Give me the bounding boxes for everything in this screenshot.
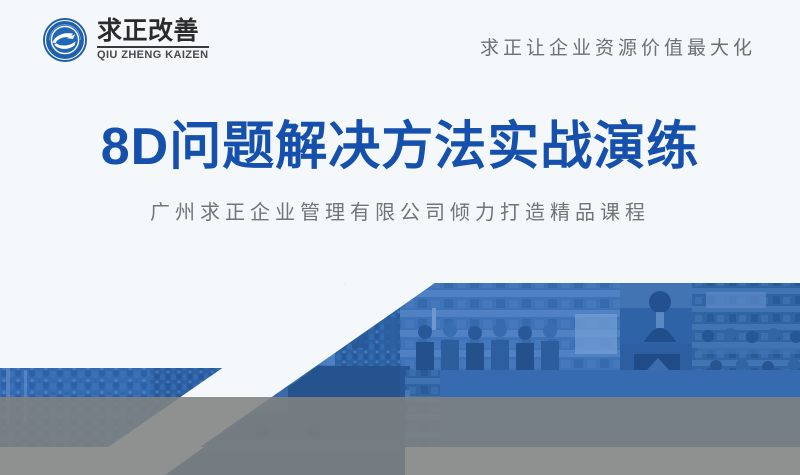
brand-wordmark: 求正改善 QIU ZHENG KAIZEN [97, 19, 209, 62]
page-title: 8D问题解决方法实战演练 [0, 118, 800, 176]
page-header: 求正改善 QIU ZHENG KAIZEN 求正让企业资源价值最大化 [0, 0, 800, 90]
page-subtitle: 广州求正企业管理有限公司倾力打造精品课程 [0, 196, 800, 225]
brand-name-cn: 求正改善 [97, 19, 209, 45]
brand-logo[interactable]: 求正改善 QIU ZHENG KAIZEN [42, 17, 209, 63]
gray-overlay-band [0, 397, 800, 475]
circular-seal-swoosh-icon [42, 17, 88, 63]
brand-name-en: QIU ZHENG KAIZEN [97, 49, 209, 61]
brand-divider-rule [97, 46, 209, 48]
title-block: 8D问题解决方法实战演练 广州求正企业管理有限公司倾力打造精品课程 [0, 118, 800, 225]
header-slogan: 求正让企业资源价值最大化 [480, 33, 756, 60]
poster-canvas: 求正改善 QIU ZHENG KAIZEN 求正让企业资源价值最大化 8D问题解… [0, 0, 800, 475]
